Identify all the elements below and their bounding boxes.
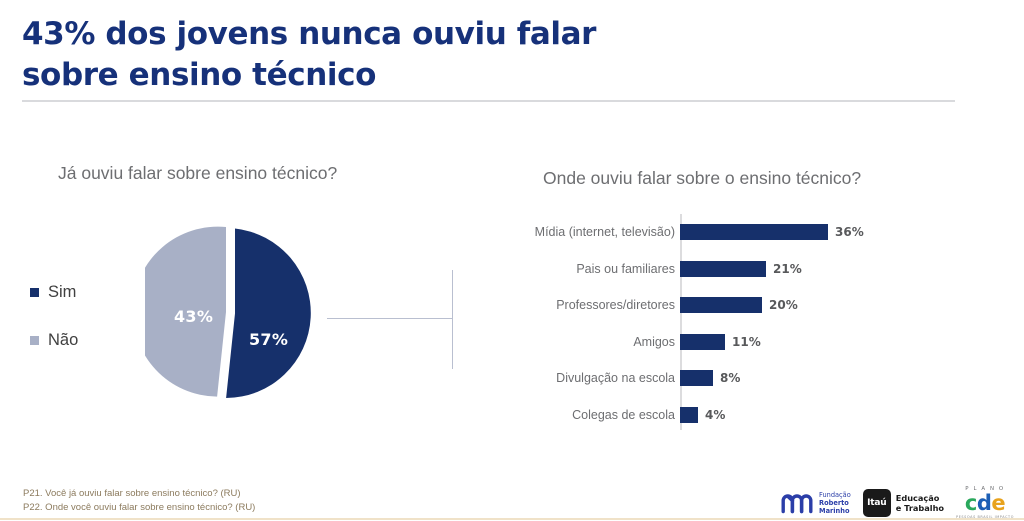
cde-letter-e: e [991, 491, 1005, 515]
bar-fill [680, 261, 766, 277]
bar-track: 8% [680, 370, 925, 386]
bar-value-label: 36% [835, 225, 864, 239]
logo-itau-educacao-trabalho: Itaú Educação e Trabalho [863, 489, 944, 517]
bottom-rule [0, 518, 1024, 520]
cde-letter-c: c [965, 491, 977, 515]
pie-chart-legend: Sim Não [30, 268, 78, 364]
bar-row: Pais ou familiares 21% [505, 251, 925, 288]
bar-category-label: Amigos [505, 335, 680, 349]
pie-chart-heading: Já ouviu falar sobre ensino técnico? [58, 163, 337, 184]
bar-row: Divulgação na escola 8% [505, 360, 925, 397]
itau-line-1: Educação [896, 493, 940, 503]
bar-value-label: 8% [720, 371, 740, 385]
bar-fill [680, 370, 713, 386]
bar-chart: Mídia (internet, televisão) 36% Pais ou … [505, 214, 925, 430]
legend-item-sim: Sim [30, 268, 78, 316]
frm-line-1: Fundação [819, 491, 851, 499]
header-divider [22, 100, 955, 102]
logo-fundacao-roberto-marinho: Fundação Roberto Marinho [781, 491, 851, 515]
page-title: 43% dos jovens nunca ouviu falar sobre e… [22, 14, 722, 96]
logo-plano-cde: P L A N O cde PESSOAS BRASIL IMPACTO [956, 487, 1014, 519]
bar-value-label: 20% [769, 298, 798, 312]
bar-row: Mídia (internet, televisão) 36% [505, 214, 925, 251]
legend-swatch-sim [30, 288, 39, 297]
bar-row: Professores/diretores 20% [505, 287, 925, 324]
itau-line-2: e Trabalho [896, 503, 944, 513]
bar-category-label: Pais ou familiares [505, 262, 680, 276]
bar-category-label: Professores/diretores [505, 298, 680, 312]
cde-letter-d: d [977, 491, 992, 515]
bar-track: 36% [680, 224, 925, 240]
bar-fill [680, 297, 762, 313]
cde-wordmark: cde [965, 493, 1005, 514]
pie-chart: 43% 57% [145, 225, 320, 400]
bar-track: 4% [680, 407, 925, 423]
bar-fill [680, 334, 725, 350]
frm-line-3: Marinho [819, 507, 849, 515]
bar-track: 20% [680, 297, 925, 313]
pie-chart-svg [145, 225, 320, 400]
bar-category-label: Mídia (internet, televisão) [505, 225, 680, 239]
pie-slice-sim [226, 229, 311, 399]
itau-wordmark: Itaú [867, 498, 886, 508]
bar-value-label: 21% [773, 262, 802, 276]
bar-track: 11% [680, 334, 925, 350]
footnotes: P21. Você já ouviu falar sobre ensino té… [23, 487, 255, 515]
frm-line-2: Roberto [819, 499, 849, 507]
legend-swatch-nao [30, 336, 39, 345]
itau-mark-icon: Itaú [863, 489, 891, 517]
bar-fill [680, 407, 698, 423]
frm-wordmark: Fundação Roberto Marinho [819, 491, 851, 515]
bar-fill [680, 224, 828, 240]
itau-tagline: Educação e Trabalho [896, 493, 944, 514]
pie-label-nao: 43% [174, 307, 213, 326]
bar-value-label: 11% [732, 335, 761, 349]
connector-horizontal-line [327, 318, 453, 319]
legend-item-nao: Não [30, 316, 78, 364]
frm-mark-icon [781, 492, 815, 514]
bar-category-label: Divulgação na escola [505, 371, 680, 385]
bar-value-label: 4% [705, 408, 725, 422]
bar-track: 21% [680, 261, 925, 277]
connector-vertical-line [452, 270, 453, 369]
bar-row: Colegas de escola 4% [505, 397, 925, 434]
logo-strip: Fundação Roberto Marinho Itaú Educação e… [781, 486, 1014, 520]
bar-category-label: Colegas de escola [505, 408, 680, 422]
bar-chart-heading: Onde ouviu falar sobre o ensino técnico? [543, 168, 861, 189]
legend-label-sim: Sim [48, 283, 76, 302]
legend-label-nao: Não [48, 331, 78, 350]
pie-label-sim: 57% [249, 330, 288, 349]
bar-row: Amigos 11% [505, 324, 925, 361]
